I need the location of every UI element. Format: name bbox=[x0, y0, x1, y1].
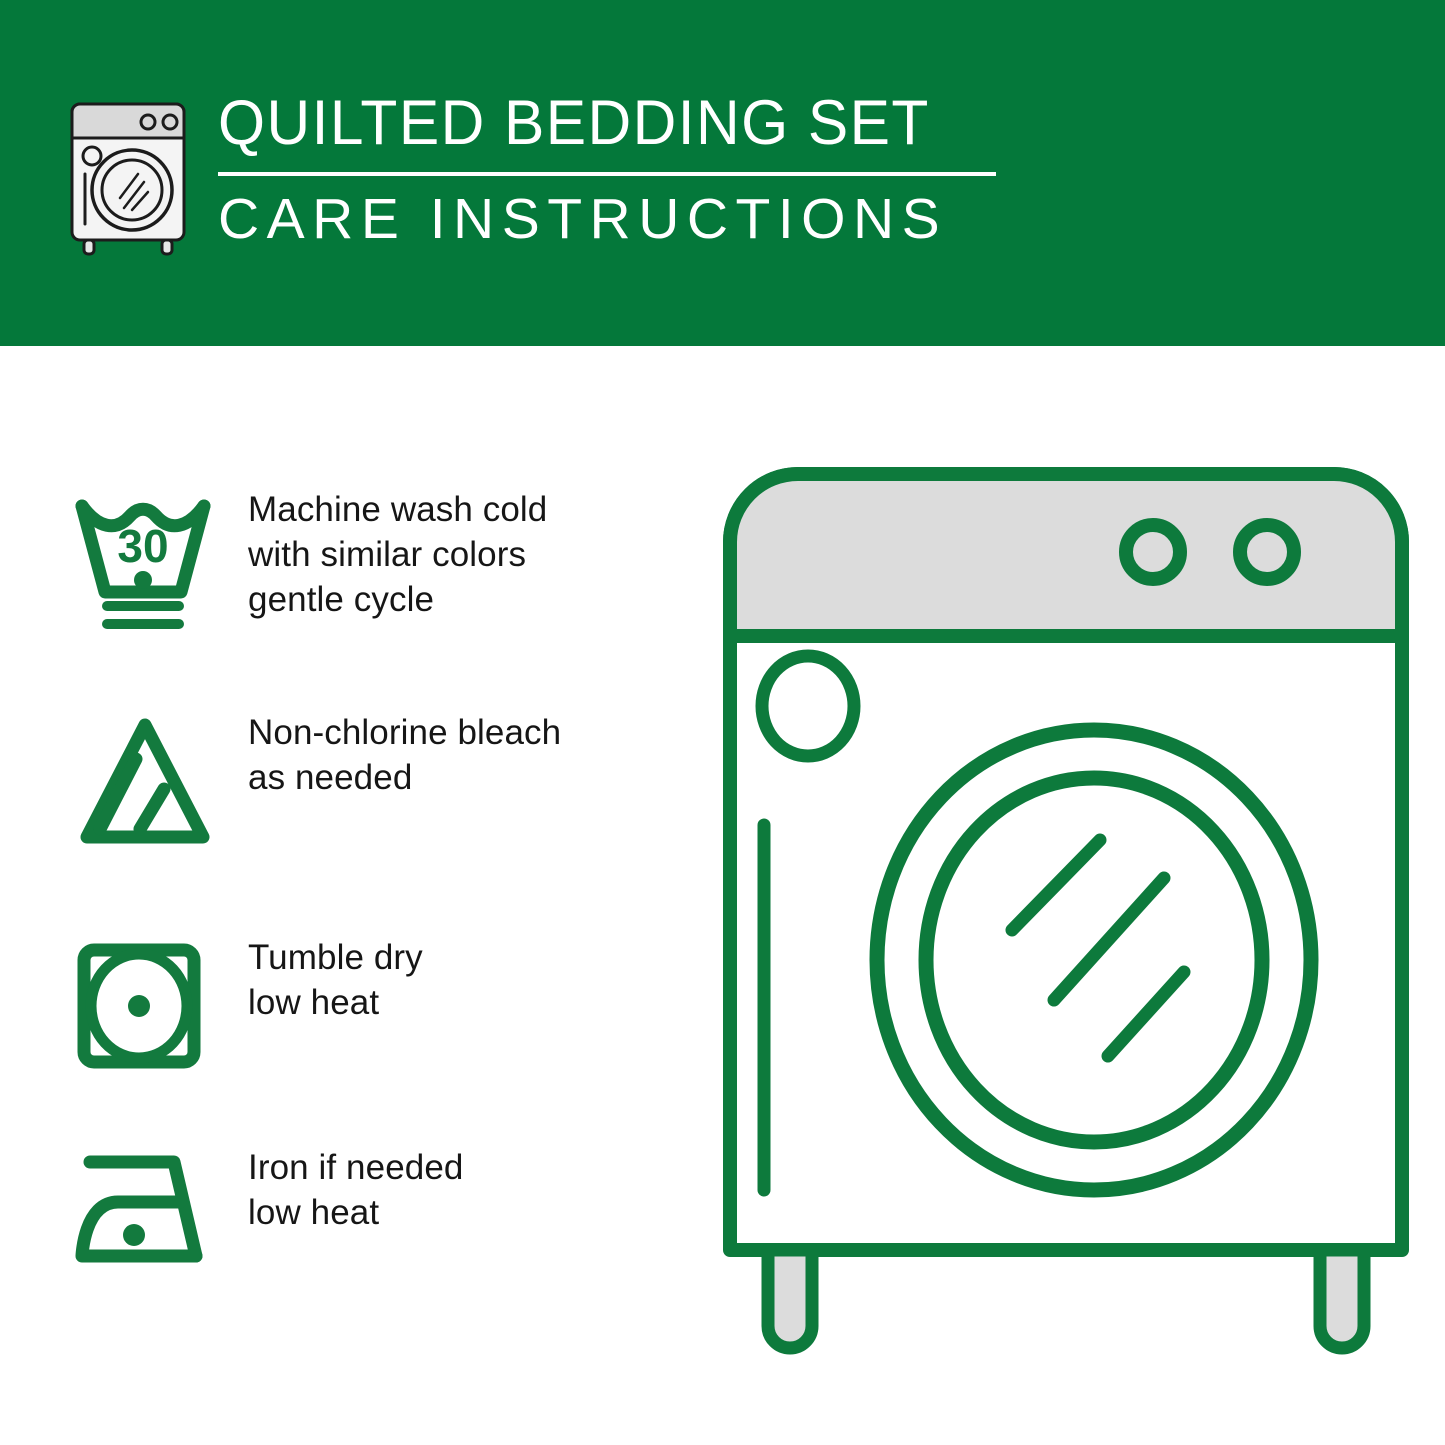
wash-dot bbox=[134, 571, 152, 589]
care-text-machine-wash: Machine wash cold with similar colors ge… bbox=[248, 488, 547, 622]
care-symbol-slot bbox=[70, 1146, 230, 1276]
header-band: QUILTED BEDDING SET CARE INSTRUCTIONS bbox=[0, 0, 1445, 346]
tumble-dry-dot bbox=[128, 995, 150, 1017]
care-row-iron: Iron if needed low heat bbox=[70, 1146, 463, 1276]
control-panel bbox=[730, 474, 1402, 636]
leg-right bbox=[1320, 1250, 1364, 1348]
leg-left bbox=[768, 1250, 812, 1348]
care-row-bleach: Non-chlorine bleach as needed bbox=[70, 711, 561, 851]
page-subtitle: CARE INSTRUCTIONS bbox=[218, 191, 996, 248]
iron-heat-dot bbox=[123, 1224, 145, 1246]
care-row-machine-wash: 30 Machine wash cold with similar colors… bbox=[70, 488, 547, 636]
care-symbol-slot bbox=[70, 936, 230, 1076]
care-symbol-slot bbox=[70, 711, 230, 851]
header-text-block: QUILTED BEDDING SET CARE INSTRUCTIONS bbox=[218, 92, 996, 248]
care-instructions-page: QUILTED BEDDING SET CARE INSTRUCTIONS 30 bbox=[0, 0, 1445, 1445]
washing-machine-icon bbox=[62, 98, 194, 258]
care-symbol-slot: 30 bbox=[70, 488, 230, 636]
wash-tub-30-icon: 30 bbox=[70, 488, 220, 636]
header-divider bbox=[218, 172, 996, 176]
care-text-bleach: Non-chlorine bleach as needed bbox=[248, 711, 561, 801]
non-chlorine-bleach-triangle-icon bbox=[70, 711, 220, 851]
wash-temperature-label: 30 bbox=[117, 520, 168, 572]
page-title: QUILTED BEDDING SET bbox=[218, 92, 965, 155]
washing-machine-illustration bbox=[716, 460, 1416, 1370]
header-content: QUILTED BEDDING SET CARE INSTRUCTIONS bbox=[62, 92, 996, 258]
iron-low-heat-icon bbox=[70, 1146, 220, 1276]
care-row-tumble-dry: Tumble dry low heat bbox=[70, 936, 423, 1076]
care-text-tumble-dry: Tumble dry low heat bbox=[248, 936, 423, 1026]
tumble-dry-low-icon bbox=[70, 936, 220, 1076]
care-text-iron: Iron if needed low heat bbox=[248, 1146, 463, 1236]
